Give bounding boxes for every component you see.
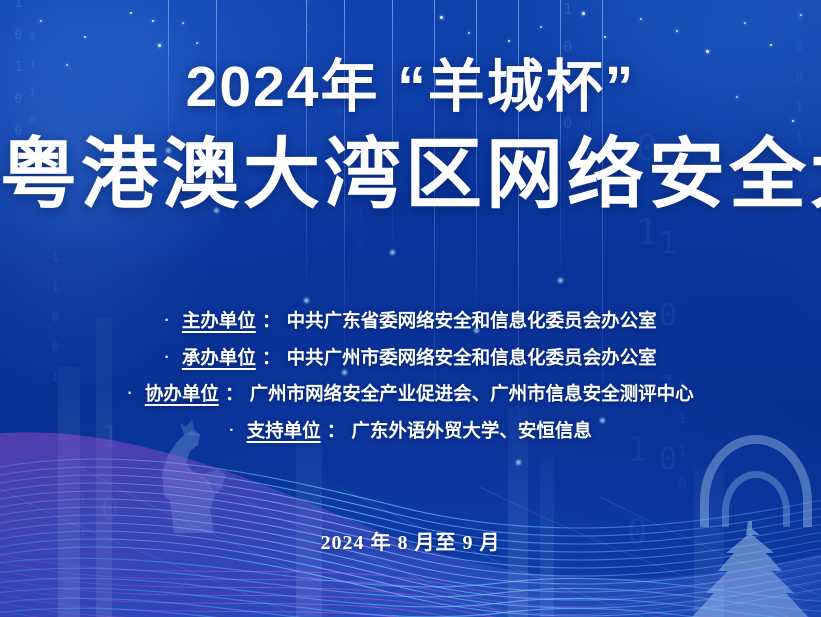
event-date-text: 2024 年 8 月至 9 月 [0, 526, 821, 555]
poster-title-block: 2024年 “羊城杯” 粤港澳大湾区网络安全大赛 [0, 56, 821, 218]
organizer-colon: ： [262, 310, 281, 331]
organizer-list: · 主办单位 ： 中共广东省委网络安全和信息化委员会办公室 · 承办单位 ： 中… [0, 303, 821, 449]
organizer-value: 中共广州市委网络安全和信息化委员会办公室 [287, 347, 657, 368]
particle-star [508, 40, 510, 42]
organizer-label: 协办单位 [145, 383, 219, 404]
title-line-2: 粤港澳大湾区网络安全大赛 [0, 132, 821, 218]
particle-star [196, 42, 198, 44]
bullet-dot-icon: · [127, 386, 132, 402]
organizer-value: 广东外语外贸大学、安恒信息 [351, 420, 592, 441]
organizer-label: 支持单位 [247, 420, 321, 441]
particle-star [706, 50, 709, 53]
particle-star [440, 16, 443, 19]
particle-star [84, 36, 86, 38]
bullet-dot-icon: · [229, 423, 234, 439]
particle-star [800, 14, 802, 16]
particle-star [158, 44, 161, 47]
organizer-label: 主办单位 [182, 310, 256, 331]
particle-star [582, 12, 585, 15]
bullet-dot-icon: · [164, 350, 169, 366]
organizer-colon: ： [327, 420, 346, 441]
organizer-value: 中共广东省委网络安全和信息化委员会办公室 [287, 310, 657, 331]
particle-star [182, 22, 184, 24]
particle-star [604, 36, 606, 38]
title-line-1: 2024年 “羊城杯” [0, 56, 821, 120]
particle-star [130, 12, 132, 14]
particle-star [770, 44, 772, 46]
organizer-row-co-organizer: · 协办单位 ： 广州市网络安全产业促进会、广州市信息安全测评中心 [0, 376, 821, 413]
organizer-row-organizer: · 承办单位 ： 中共广州市委网络安全和信息化委员会办公室 [0, 340, 821, 377]
particle-star [676, 30, 678, 32]
particle-star [540, 26, 542, 28]
bullet-dot-icon: · [164, 313, 169, 329]
organizer-value: 广州市网络安全产业促进会、广州市信息安全测评中心 [250, 383, 694, 404]
organizer-colon: ： [262, 347, 281, 368]
organizer-row-supporter: · 支持单位 ： 广东外语外贸大学、安恒信息 [0, 413, 821, 450]
particle-star [468, 32, 470, 34]
organizer-colon: ： [225, 383, 244, 404]
organizer-label: 承办单位 [182, 347, 256, 368]
particle-star [744, 22, 746, 24]
organizer-row-host: · 主办单位 ： 中共广东省委网络安全和信息化委员会办公室 [0, 303, 821, 340]
poster-canvas: 1 0 1 0 0 1 0 1 1 0 1 1 0 0 1 1 0 0 1 1 … [0, 0, 821, 617]
particle-star [640, 18, 642, 20]
particle-star [152, 20, 154, 22]
particle-star [40, 20, 42, 22]
